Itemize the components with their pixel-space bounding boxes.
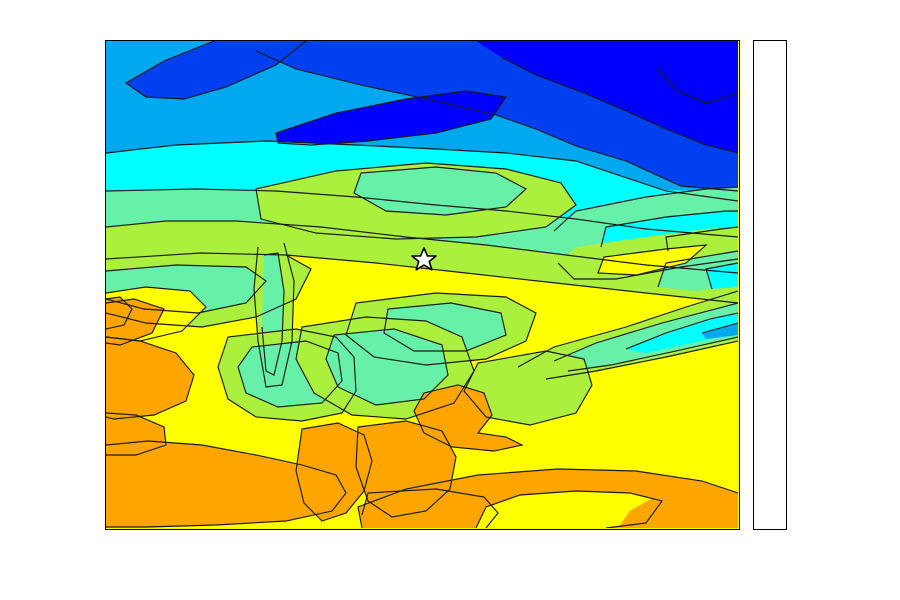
contour-figure: [0, 0, 900, 600]
salinity-contour-map: [106, 41, 738, 528]
colorbar[interactable]: [753, 40, 787, 530]
plot-area[interactable]: [105, 40, 740, 530]
